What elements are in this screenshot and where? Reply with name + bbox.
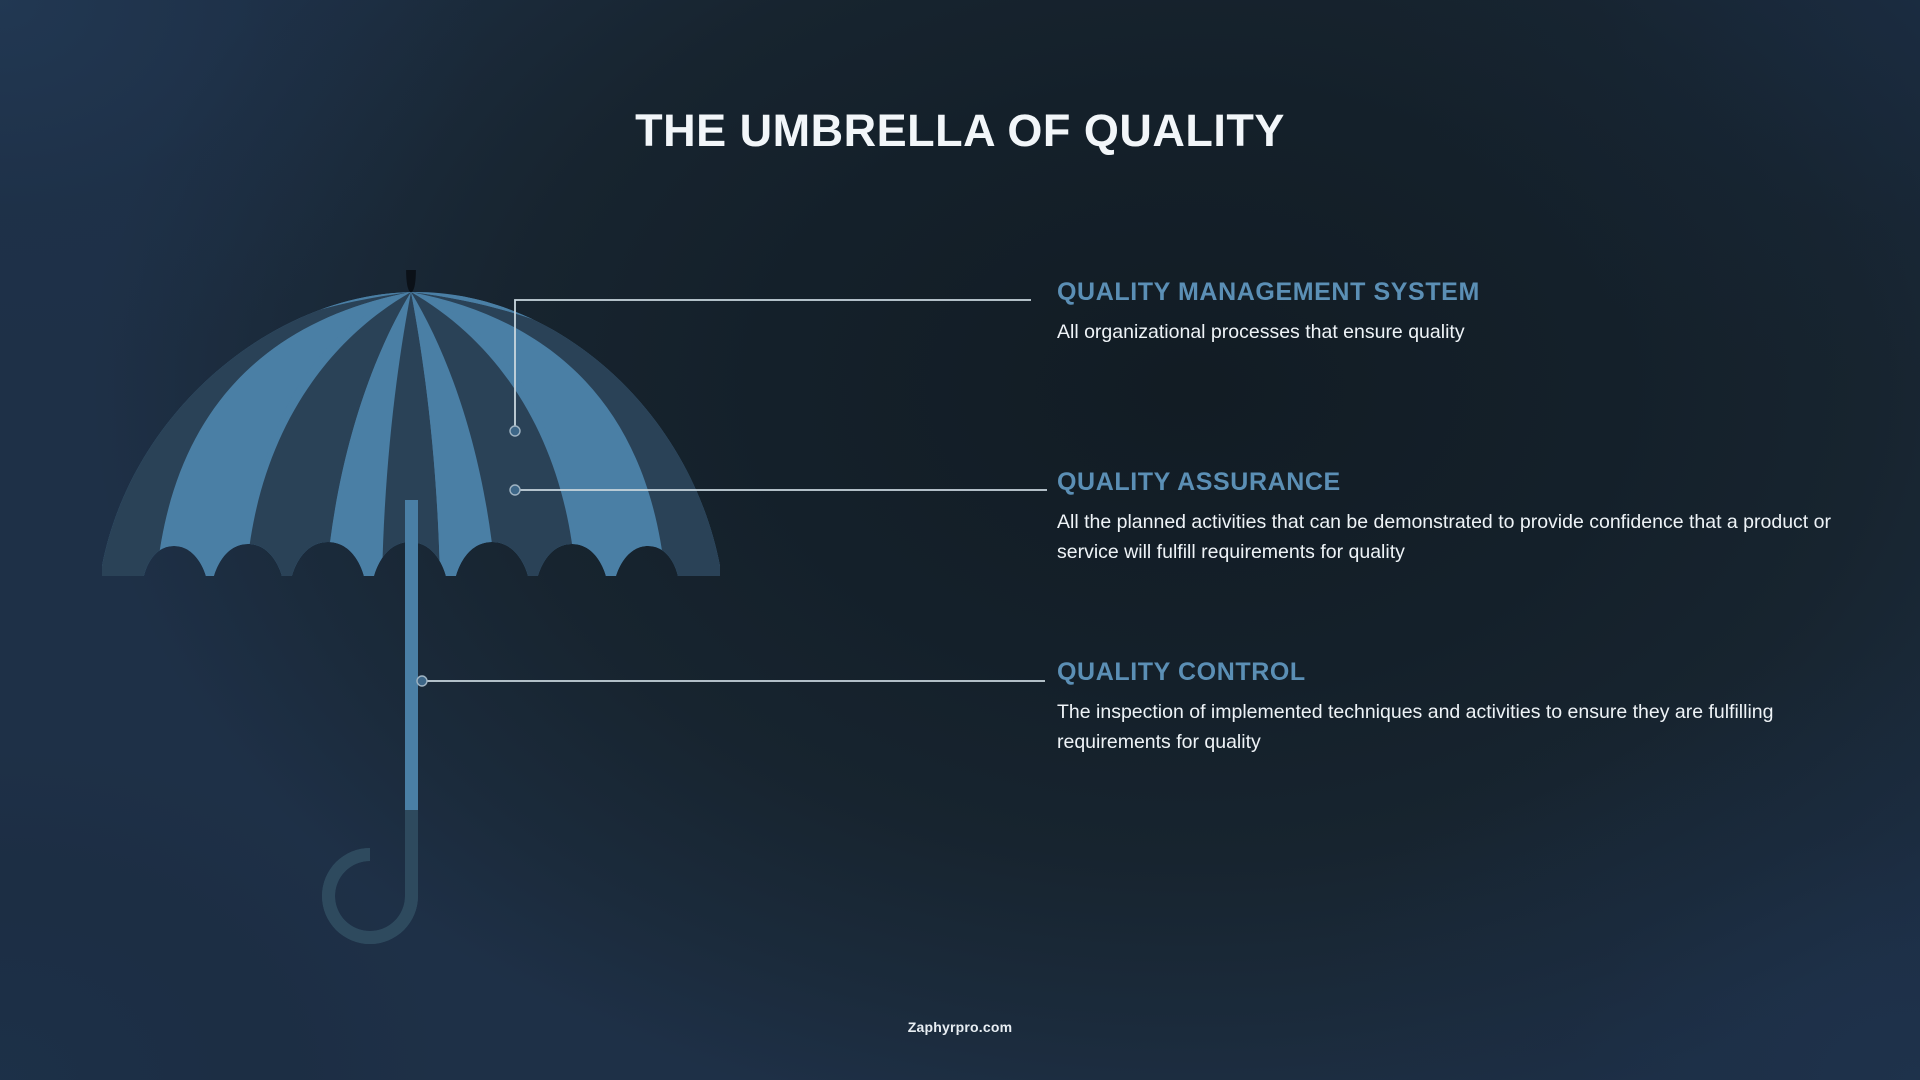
umbrella-handle-curve (322, 810, 418, 944)
callout-body-qms: All organizational processes that ensure… (1057, 317, 1480, 347)
callout-heading-qc: QUALITY CONTROL (1057, 658, 1857, 687)
callout-heading-qa: QUALITY ASSURANCE (1057, 468, 1847, 497)
callout-heading-qms: QUALITY MANAGEMENT SYSTEM (1057, 278, 1480, 307)
umbrella-canopy (40, 270, 800, 610)
callout-quality-assurance: QUALITY ASSURANCE All the planned activi… (1057, 468, 1847, 567)
umbrella-illustration (40, 270, 800, 970)
callout-body-qc: The inspection of implemented techniques… (1057, 697, 1857, 757)
footer-attribution: Zaphyrpro.com (0, 1019, 1920, 1035)
umbrella-tip (406, 270, 416, 292)
callout-quality-control: QUALITY CONTROL The inspection of implem… (1057, 658, 1857, 757)
callout-body-qa: All the planned activities that can be d… (1057, 507, 1847, 567)
umbrella-shaft (405, 500, 418, 855)
callout-quality-management-system: QUALITY MANAGEMENT SYSTEM All organizati… (1057, 278, 1480, 347)
page-title: THE UMBRELLA OF QUALITY (0, 106, 1920, 156)
slide-canvas: THE UMBRELLA OF QUALITY (0, 0, 1920, 1080)
